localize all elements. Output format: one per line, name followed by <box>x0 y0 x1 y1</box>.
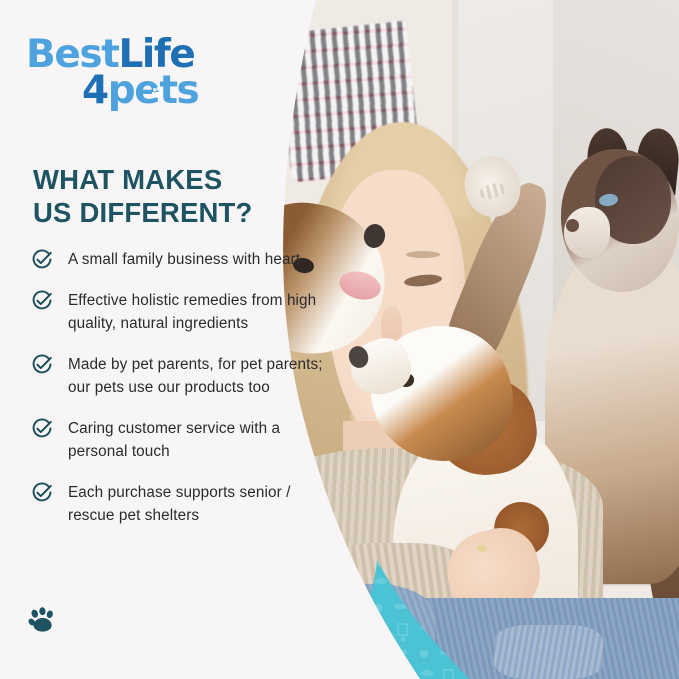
footer-paw-print-icon <box>26 604 60 637</box>
check-circle-icon <box>31 290 53 312</box>
check-circle-icon <box>31 354 53 376</box>
list-item: Effective holistic remedies from high qu… <box>31 289 331 335</box>
woman-eyebrow-right <box>406 251 440 258</box>
list-item-label: Caring customer service with a personal … <box>68 417 331 463</box>
cat-nose <box>566 219 579 233</box>
check-circle-icon <box>31 249 53 271</box>
list-item-label: Each purchase supports senior / rescue p… <box>68 481 331 527</box>
list-item: A small family business with heart <box>31 248 331 271</box>
logo-paw-print-icon <box>150 86 165 99</box>
headline-line-2: US DIFFERENT? <box>33 196 313 229</box>
headline-line-1: WHAT MAKES <box>33 163 313 196</box>
check-circle-icon <box>31 418 53 440</box>
list-item: Made by pet parents, for pet parents; ou… <box>31 353 331 399</box>
list-item-label: A small family business with heart <box>68 248 300 271</box>
brand-logo[interactable]: BestLife 4pets <box>26 36 256 114</box>
woman-jeans-cuff <box>494 625 603 679</box>
logo-row-bottom: 4pets <box>82 72 256 110</box>
list-item: Caring customer service with a personal … <box>31 417 331 463</box>
list-item: Each purchase supports senior / rescue p… <box>31 481 331 527</box>
marketing-banner: BestLife 4pets WHAT MAKES US DIFFERENT? <box>0 0 679 679</box>
woman-ring <box>477 545 487 552</box>
benefits-list: A small family business with heart Effec… <box>31 248 331 545</box>
list-item-label: Effective holistic remedies from high qu… <box>68 289 331 335</box>
page-title: WHAT MAKES US DIFFERENT? <box>33 163 313 229</box>
cat-muzzle <box>564 207 610 258</box>
logo-word-four: 4 <box>82 68 108 113</box>
check-circle-icon <box>31 482 53 504</box>
content-panel: BestLife 4pets WHAT MAKES US DIFFERENT? <box>0 0 330 679</box>
list-item-label: Made by pet parents, for pet parents; ou… <box>68 353 331 399</box>
